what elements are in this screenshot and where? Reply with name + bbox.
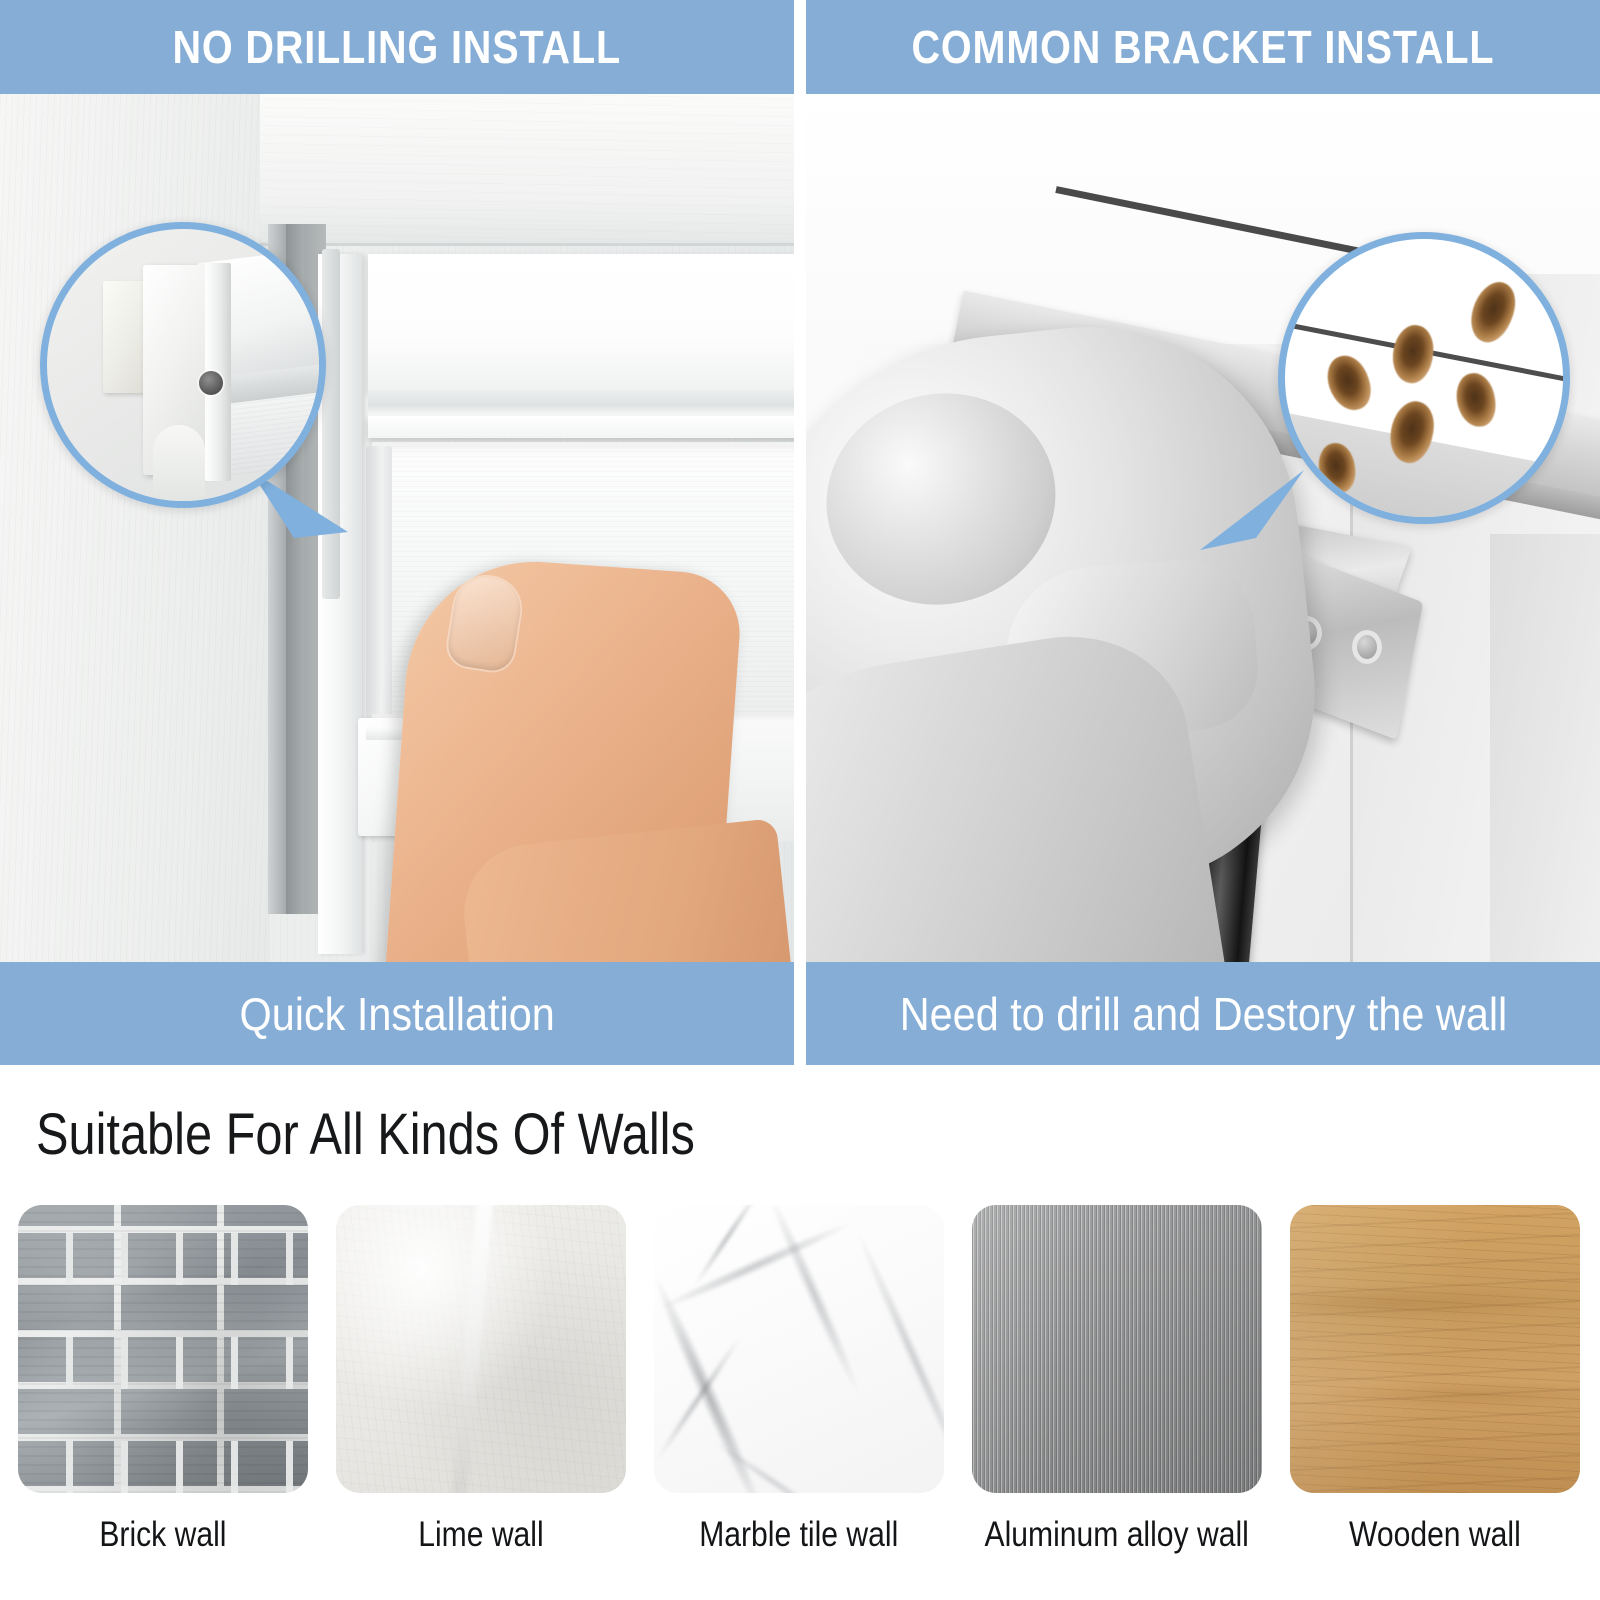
- brick-wall-label: Brick wall: [99, 1515, 226, 1555]
- wall-swatch-brick: Brick wall: [18, 1205, 308, 1555]
- panel-header-common-bracket-label: COMMON BRACKET INSTALL: [912, 20, 1495, 74]
- panel-caption-no-drilling-label: Quick Installation: [239, 987, 554, 1041]
- callout-drill-holes: [1278, 232, 1570, 524]
- panel-caption-no-drilling: Quick Installation: [0, 962, 794, 1065]
- photo-no-drilling: [0, 94, 794, 962]
- photo-no-drilling-image: [0, 94, 794, 962]
- callout-bracket-clip: [40, 222, 326, 508]
- ceiling-lintel: [260, 94, 794, 246]
- walls-section-title-label: Suitable For All Kinds Of Walls: [36, 1101, 695, 1168]
- drill-hole-damage: [1387, 321, 1438, 386]
- wooden-wall-label: Wooden wall: [1349, 1515, 1521, 1555]
- lime-wall-label-wrap: Lime wall: [408, 1515, 554, 1555]
- drill-hole-damage: [1462, 276, 1524, 349]
- blind-headrail-lip: [368, 390, 794, 416]
- photo-common-bracket: [806, 94, 1600, 962]
- blind-headrail: [368, 254, 794, 392]
- wall-corner-inner: [1490, 534, 1600, 962]
- roller-blind-edge: [366, 446, 392, 722]
- wall-swatch-wood: Wooden wall: [1290, 1205, 1580, 1555]
- marble-wall-texture: [654, 1205, 944, 1493]
- blind-headrail-lip-lower: [368, 416, 794, 438]
- aluminum-wall-label-wrap: Aluminum alloy wall: [963, 1515, 1270, 1555]
- comparison-section: NO DRILLING INSTALL: [0, 0, 1600, 1065]
- lime-wall-texture: [336, 1205, 626, 1493]
- wall-surface: [0, 94, 270, 962]
- bracket-eyelet: [1352, 630, 1382, 664]
- panel-header-no-drilling-label: NO DRILLING INSTALL: [173, 20, 622, 74]
- aluminum-wall-texture: [972, 1205, 1262, 1493]
- wall-swatch-row: Brick wall Lime wall Marble tile wall Al…: [18, 1205, 1582, 1555]
- lime-wall-label: Lime wall: [418, 1515, 543, 1555]
- wooden-wall-texture: [1290, 1205, 1580, 1493]
- callout-clip-screw: [199, 371, 223, 395]
- wall-swatch-aluminum: Aluminum alloy wall: [972, 1205, 1262, 1555]
- marble-wall-label-wrap: Marble tile wall: [683, 1515, 914, 1555]
- product-infographic: NO DRILLING INSTALL: [0, 0, 1600, 1600]
- panel-common-bracket: COMMON BRACKET INSTALL: [806, 0, 1600, 1065]
- wall-swatch-lime: Lime wall: [336, 1205, 626, 1555]
- callout-clip-stem: [153, 425, 205, 507]
- brick-wall-texture: [18, 1205, 308, 1493]
- suitable-walls-section: Suitable For All Kinds Of Walls Brick wa…: [0, 1065, 1600, 1600]
- panel-caption-common-bracket: Need to drill and Destory the wall: [806, 962, 1600, 1065]
- panel-header-common-bracket: COMMON BRACKET INSTALL: [806, 0, 1600, 94]
- panel-no-drilling: NO DRILLING INSTALL: [0, 0, 794, 1065]
- walls-section-title: Suitable For All Kinds Of Walls: [36, 1101, 820, 1168]
- wall-swatch-marble: Marble tile wall: [654, 1205, 944, 1555]
- drill-hole-damage: [1321, 350, 1376, 416]
- drill-hole-damage: [1453, 371, 1498, 430]
- panel-caption-common-bracket-label: Need to drill and Destory the wall: [899, 987, 1507, 1041]
- marble-wall-label: Marble tile wall: [699, 1515, 898, 1555]
- wooden-wall-label-wrap: Wooden wall: [1335, 1515, 1535, 1555]
- brick-wall-label-wrap: Brick wall: [89, 1515, 237, 1555]
- panel-header-no-drilling: NO DRILLING INSTALL: [0, 0, 794, 94]
- aluminum-wall-label: Aluminum alloy wall: [985, 1515, 1249, 1555]
